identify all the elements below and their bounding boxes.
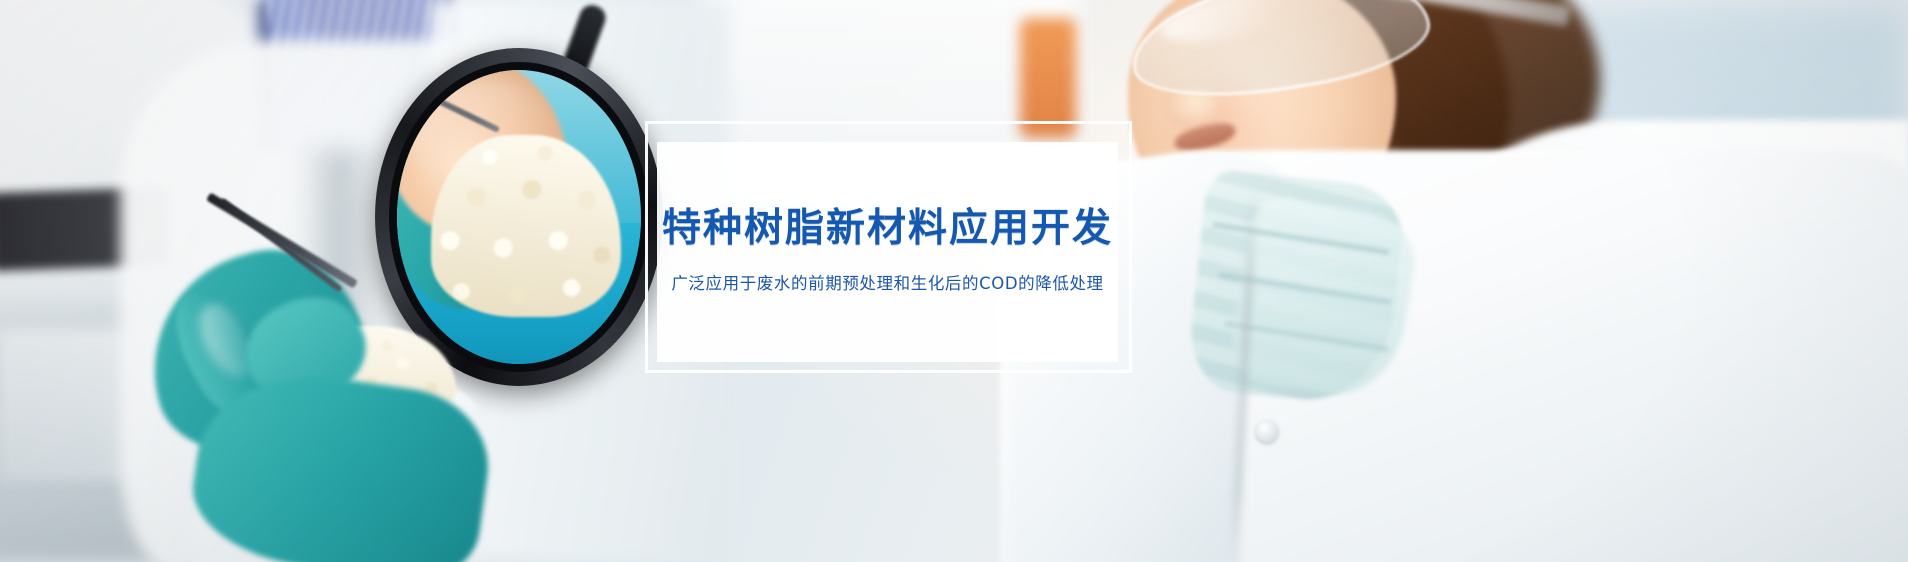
magnifier-glare (407, 79, 558, 191)
banner-text-card: 特种树脂新材料应用开发 广泛应用于废水的前期预处理和生化后的COD的降低处理 (657, 142, 1118, 362)
background-orange-object (1020, 18, 1076, 138)
hero-banner: 特种树脂新材料应用开发 广泛应用于废水的前期预处理和生化后的COD的降低处理 (0, 0, 1908, 562)
magnifier-lens (397, 70, 641, 364)
banner-title: 特种树脂新材料应用开发 (662, 209, 1113, 248)
lab-coat-button (1256, 420, 1278, 442)
banner-subtitle: 广泛应用于废水的前期预处理和生化后的COD的降低处理 (671, 273, 1103, 294)
